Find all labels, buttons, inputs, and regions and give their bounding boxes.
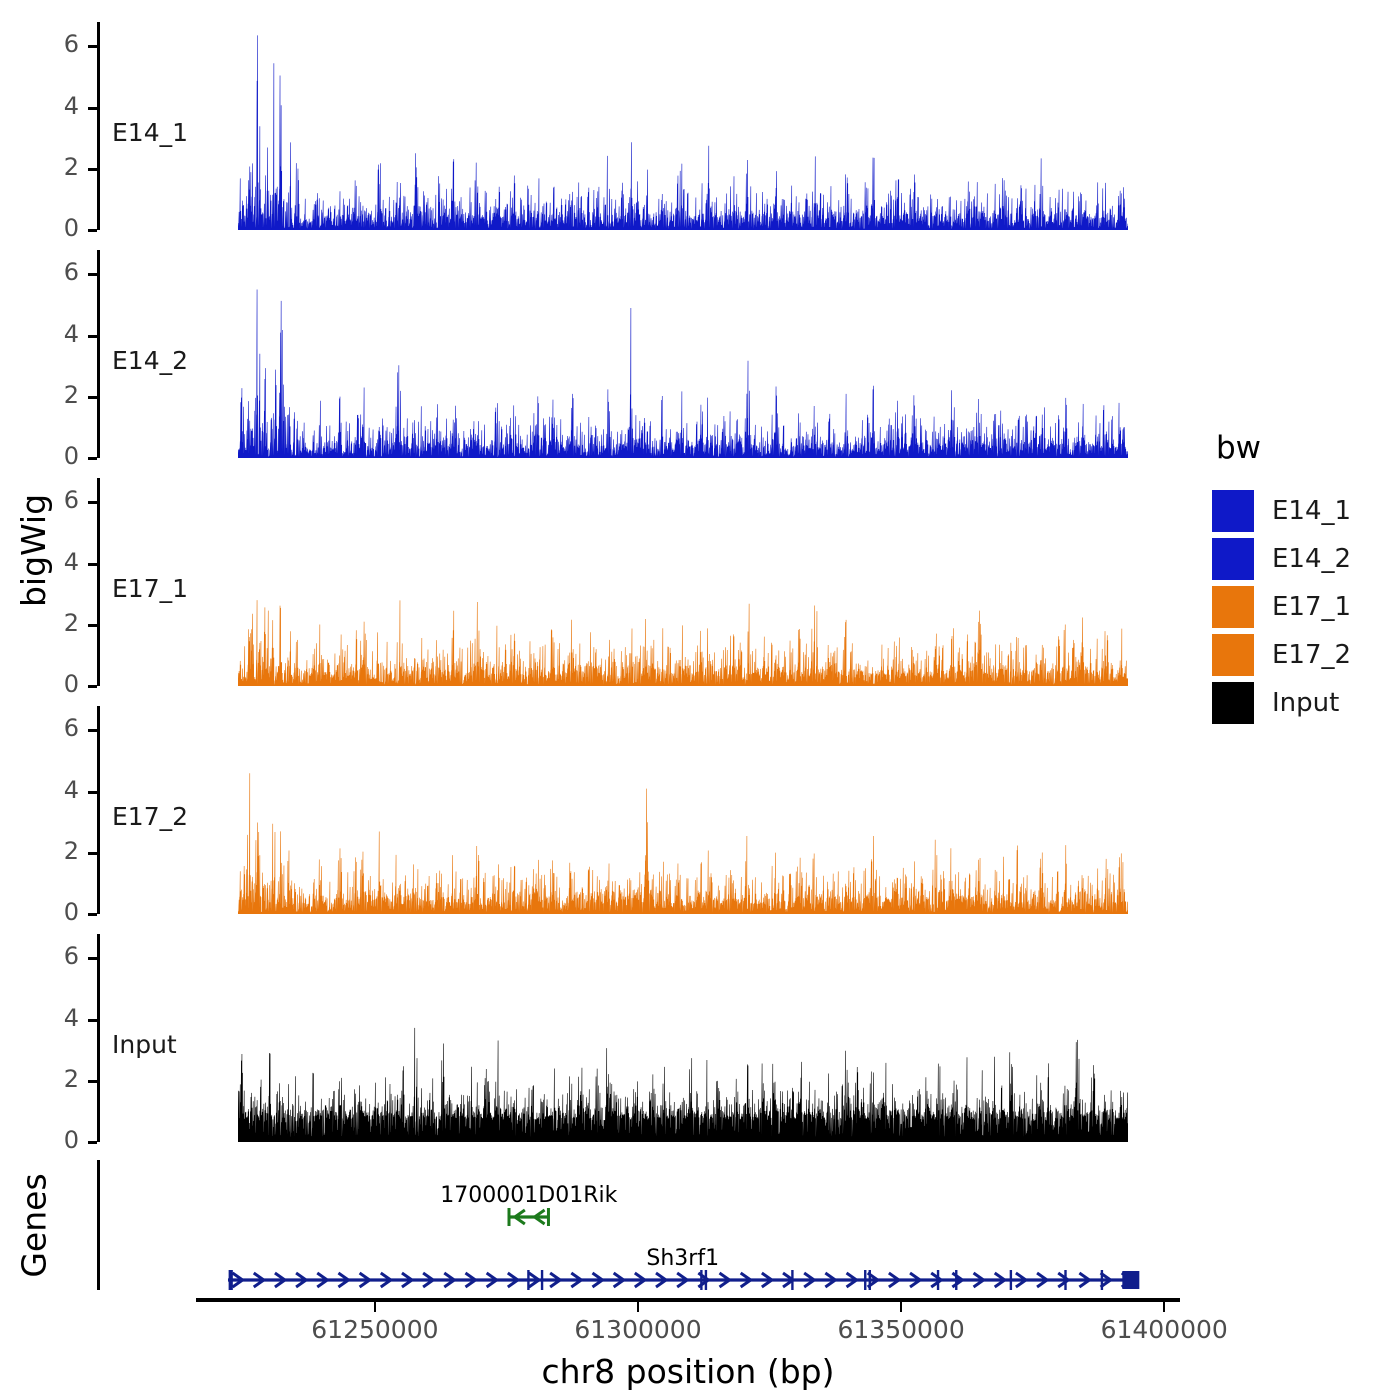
legend-color-swatch xyxy=(1212,682,1254,724)
y-tick-label: 6 xyxy=(39,714,79,742)
y-tick-label: 2 xyxy=(39,153,79,181)
legend-color-swatch xyxy=(1212,538,1254,580)
y-axis-line-input xyxy=(97,934,100,1142)
legend-item-label: E17_2 xyxy=(1272,640,1351,670)
y-axis-line-e14_2 xyxy=(97,250,100,458)
y-tick-label: 2 xyxy=(39,609,79,637)
gene-model-sh3rf1[interactable] xyxy=(224,1267,1148,1297)
y-tick-label: 0 xyxy=(39,1126,79,1154)
legend-title: bw xyxy=(1212,430,1351,466)
y-axis-line-e17_2 xyxy=(97,706,100,914)
y-tick-label: 2 xyxy=(39,1065,79,1093)
y-tick xyxy=(88,791,97,794)
legend-color-swatch xyxy=(1212,634,1254,676)
track-label-input: Input xyxy=(112,1030,177,1059)
legend-item-label: E14_2 xyxy=(1272,544,1351,574)
y-tick xyxy=(88,45,97,48)
coverage-track-e14_1 xyxy=(238,22,1128,230)
x-axis-label: chr8 position (bp) xyxy=(196,1352,1180,1391)
y-tick xyxy=(88,957,97,960)
x-axis-line xyxy=(196,1298,1180,1302)
y-axis-line-e17_1 xyxy=(97,478,100,686)
genes-axis-line xyxy=(97,1160,100,1290)
legend-item-label: E17_1 xyxy=(1272,592,1351,622)
y-tick xyxy=(88,563,97,566)
y-tick xyxy=(88,273,97,276)
x-tick xyxy=(900,1302,902,1312)
genes-panel: 1700001D01RikSh3rf1 xyxy=(0,1155,1400,1300)
x-tick-label: 61350000 xyxy=(791,1315,1011,1344)
track-label-e17_1: E17_1 xyxy=(112,574,188,603)
legend-color-swatch xyxy=(1212,586,1254,628)
y-tick-label: 4 xyxy=(39,1004,79,1032)
coverage-track-e14_2 xyxy=(238,250,1128,458)
genome-browser-figure: bigWig Genes 6420E14_16420E14_26420E17_1… xyxy=(0,0,1400,1400)
y-tick xyxy=(88,107,97,110)
y-tick xyxy=(88,1141,97,1144)
y-tick-label: 0 xyxy=(39,442,79,470)
y-tick xyxy=(88,624,97,627)
y-tick xyxy=(88,335,97,338)
x-tick xyxy=(1163,1302,1165,1312)
y-axis-line-e14_1 xyxy=(97,22,100,230)
y-tick xyxy=(88,396,97,399)
legend: bw E14_1E14_2E17_1E17_2Input xyxy=(1212,430,1351,728)
y-tick xyxy=(88,501,97,504)
legend-item-e14_2[interactable]: E14_2 xyxy=(1212,536,1351,582)
y-tick-label: 4 xyxy=(39,776,79,804)
y-tick xyxy=(88,168,97,171)
x-tick xyxy=(637,1302,639,1312)
track-label-e17_2: E17_2 xyxy=(112,802,188,831)
track-label-e14_2: E14_2 xyxy=(112,346,188,375)
y-tick xyxy=(88,457,97,460)
legend-item-e17_1[interactable]: E17_1 xyxy=(1212,584,1351,630)
track-label-e14_1: E14_1 xyxy=(112,118,188,147)
y-tick-label: 6 xyxy=(39,258,79,286)
legend-item-e17_2[interactable]: E17_2 xyxy=(1212,632,1351,678)
gene-model-1700001d01rik[interactable] xyxy=(505,1204,558,1234)
coverage-track-e17_2 xyxy=(238,706,1128,914)
x-tick-label: 61300000 xyxy=(528,1315,748,1344)
y-tick xyxy=(88,729,97,732)
y-tick xyxy=(88,229,97,232)
y-tick xyxy=(88,1019,97,1022)
legend-item-input[interactable]: Input xyxy=(1212,680,1351,726)
y-tick-label: 6 xyxy=(39,486,79,514)
x-tick-label: 61250000 xyxy=(265,1315,485,1344)
y-tick-label: 4 xyxy=(39,92,79,120)
x-tick xyxy=(374,1302,376,1312)
y-tick-label: 2 xyxy=(39,837,79,865)
y-tick xyxy=(88,685,97,688)
legend-item-e14_1[interactable]: E14_1 xyxy=(1212,488,1351,534)
legend-item-label: Input xyxy=(1272,688,1339,718)
legend-color-swatch xyxy=(1212,490,1254,532)
y-tick-label: 4 xyxy=(39,548,79,576)
y-tick-label: 6 xyxy=(39,942,79,970)
coverage-track-input xyxy=(238,934,1128,1142)
legend-items: E14_1E14_2E17_1E17_2Input xyxy=(1212,488,1351,726)
y-tick xyxy=(88,852,97,855)
y-tick-label: 6 xyxy=(39,30,79,58)
x-tick-label: 61400000 xyxy=(1054,1315,1274,1344)
y-tick-label: 2 xyxy=(39,381,79,409)
y-tick-label: 0 xyxy=(39,670,79,698)
coverage-track-e17_1 xyxy=(238,478,1128,686)
legend-item-label: E14_1 xyxy=(1272,496,1351,526)
y-tick-label: 0 xyxy=(39,214,79,242)
y-tick-label: 0 xyxy=(39,898,79,926)
y-tick-label: 4 xyxy=(39,320,79,348)
y-tick xyxy=(88,1080,97,1083)
y-tick xyxy=(88,913,97,916)
